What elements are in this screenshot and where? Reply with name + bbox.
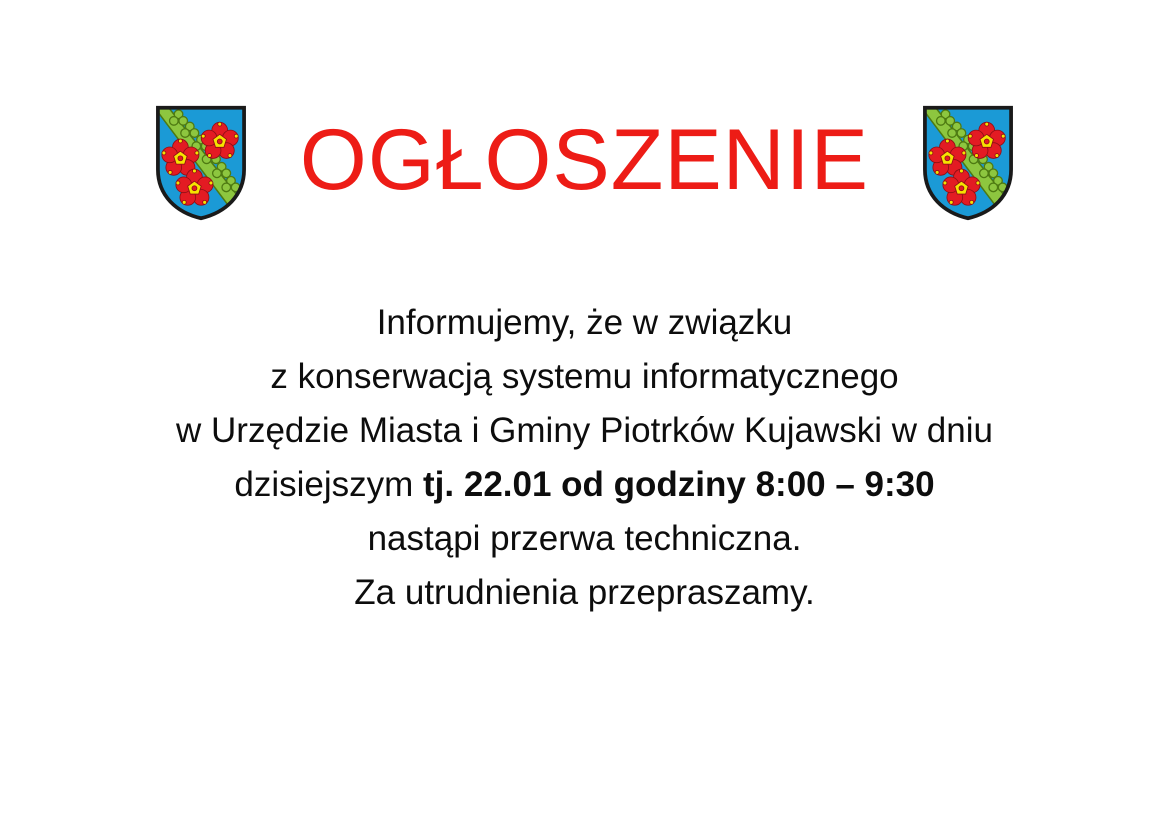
coat-of-arms-icon-left bbox=[154, 104, 248, 222]
maintenance-window-text: tj. 22.01 od godziny 8:00 – 9:30 bbox=[423, 465, 935, 504]
body-line-6: Za utrudnienia przepraszamy. bbox=[0, 566, 1169, 620]
body-line-3: w Urzędzie Miasta i Gminy Piotrków Kujaw… bbox=[0, 404, 1169, 458]
page-title: OGŁOSZENIE bbox=[300, 117, 869, 209]
body-line-4-prefix: dzisiejszym bbox=[234, 465, 423, 504]
header-band: OGŁOSZENIE bbox=[0, 100, 1169, 226]
coat-of-arms-icon-right bbox=[921, 104, 1015, 222]
announcement-page: OGŁOSZENIE bbox=[0, 0, 1169, 826]
body-line-2: z konserwacją systemu informatycznego bbox=[0, 350, 1169, 404]
body-line-5: nastąpi przerwa techniczna. bbox=[0, 512, 1169, 566]
body-line-4: dzisiejszym tj. 22.01 od godziny 8:00 – … bbox=[0, 458, 1169, 512]
body-line-1: Informujemy, że w związku bbox=[0, 296, 1169, 350]
announcement-body: Informujemy, że w związku z konserwacją … bbox=[0, 296, 1169, 620]
